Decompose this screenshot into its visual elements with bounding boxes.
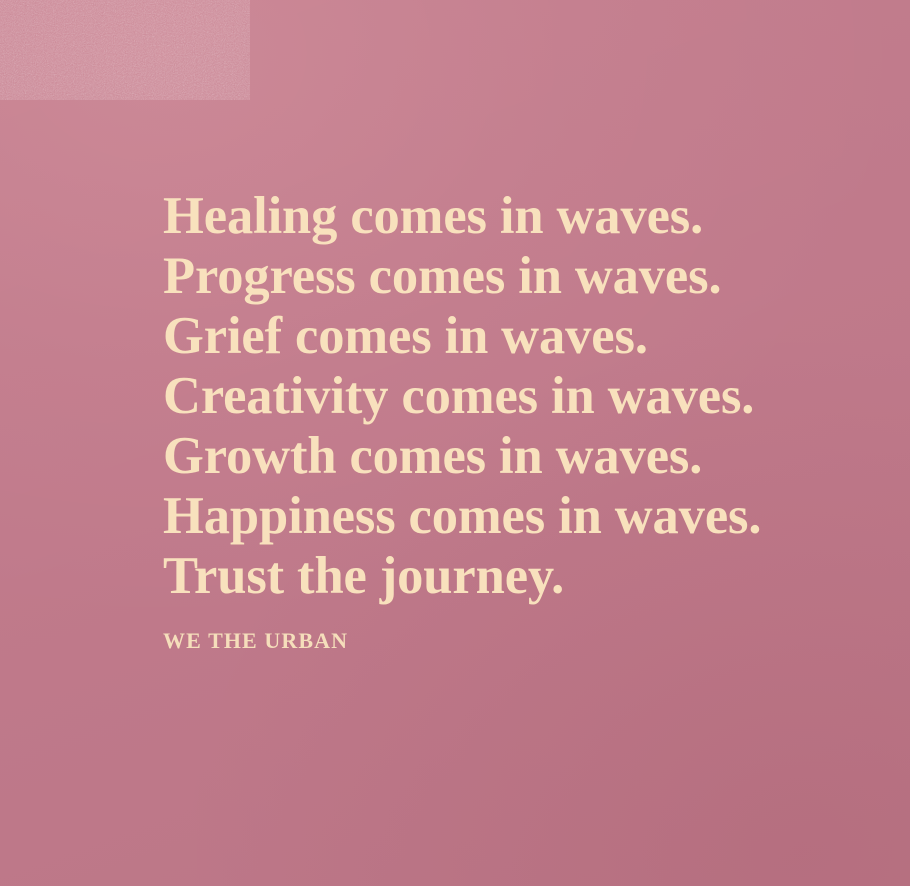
grain-texture-coarse bbox=[0, 0, 250, 100]
quote-line: Growth comes in waves. bbox=[163, 426, 863, 486]
quote-block: Healing comes in waves. Progress comes i… bbox=[163, 186, 863, 654]
quote-line: Progress comes in waves. bbox=[163, 246, 863, 306]
quote-line: Happiness comes in waves. bbox=[163, 486, 863, 546]
quote-line: Creativity comes in waves. bbox=[163, 366, 863, 426]
grain-texture-fine bbox=[0, 0, 250, 100]
quote-line: Healing comes in waves. bbox=[163, 186, 863, 246]
attribution: WE THE URBAN bbox=[163, 628, 863, 654]
quote-card: Healing comes in waves. Progress comes i… bbox=[0, 0, 910, 886]
quote-line: Trust the journey. bbox=[163, 546, 863, 606]
quote-line: Grief comes in waves. bbox=[163, 306, 863, 366]
